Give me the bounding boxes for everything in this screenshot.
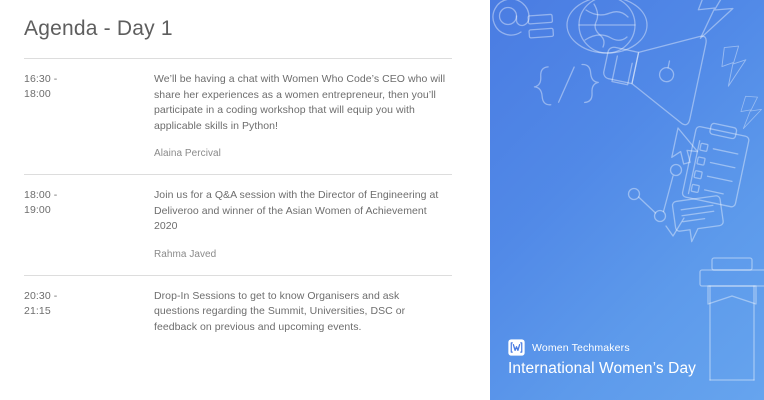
lectern-podium-icon bbox=[700, 247, 764, 380]
equals-icon bbox=[528, 14, 553, 38]
clipboard-checklist-icon bbox=[682, 120, 751, 208]
lightning-bolt-icon bbox=[694, 0, 735, 42]
agenda-row-description: Drop-In Sessions to get to know Organise… bbox=[154, 289, 446, 336]
agenda-row: 18:00 - 19:00 Join us for a Q&A session … bbox=[24, 174, 452, 275]
agenda-row-description: Join us for a Q&A session with the Direc… bbox=[154, 188, 446, 235]
agenda-row-body: Join us for a Q&A session with the Direc… bbox=[154, 188, 452, 262]
brand-wordmark: Women Techmakers bbox=[532, 342, 630, 354]
cursor-arrow-icon bbox=[671, 128, 702, 166]
code-braces-icon bbox=[533, 63, 599, 105]
agenda-row: 20:30 - 21:15 Drop-In Sessions to get to… bbox=[24, 275, 452, 349]
network-nodes-icon bbox=[629, 165, 682, 222]
women-techmakers-logo-icon bbox=[508, 339, 525, 356]
megaphone-icon bbox=[597, 18, 708, 126]
page-title: Agenda - Day 1 bbox=[24, 17, 173, 41]
globe-icon bbox=[567, 0, 647, 53]
slide-root: Agenda - Day 1 16:30 - 18:00 We’ll be ha… bbox=[0, 0, 764, 400]
agenda-row-speaker: Alaina Percival bbox=[154, 147, 446, 161]
bracket-w-glyph bbox=[508, 339, 525, 356]
speech-bubble-icon bbox=[672, 195, 725, 243]
agenda-row-time: 18:00 - 19:00 bbox=[24, 188, 154, 262]
agenda-row-speaker: Rahma Javed bbox=[154, 248, 446, 262]
agenda-row-time: 16:30 - 18:00 bbox=[24, 72, 154, 161]
at-sign-icon bbox=[493, 0, 529, 35]
brand-event-name: International Women’s Day bbox=[508, 360, 696, 378]
brand-panel: Women Techmakers International Women’s D… bbox=[490, 0, 764, 400]
lightning-bolt-icon bbox=[740, 96, 763, 130]
agenda-row-description: We’ll be having a chat with Women Who Co… bbox=[154, 72, 446, 134]
agenda-row-time: 20:30 - 21:15 bbox=[24, 289, 154, 336]
agenda-row-body: Drop-In Sessions to get to know Organise… bbox=[154, 289, 452, 336]
brand-lockup: Women Techmakers International Women’s D… bbox=[508, 339, 696, 378]
checkmark-icon bbox=[666, 218, 684, 236]
agenda-list: 16:30 - 18:00 We’ll be having a chat wit… bbox=[24, 58, 452, 348]
agenda-row-body: We’ll be having a chat with Women Who Co… bbox=[154, 72, 452, 161]
lightning-bolt-icon bbox=[720, 45, 748, 86]
brand-top-row: Women Techmakers bbox=[508, 339, 696, 356]
agenda-row: 16:30 - 18:00 We’ll be having a chat wit… bbox=[24, 58, 452, 174]
agenda-panel: Agenda - Day 1 16:30 - 18:00 We’ll be ha… bbox=[0, 0, 490, 400]
